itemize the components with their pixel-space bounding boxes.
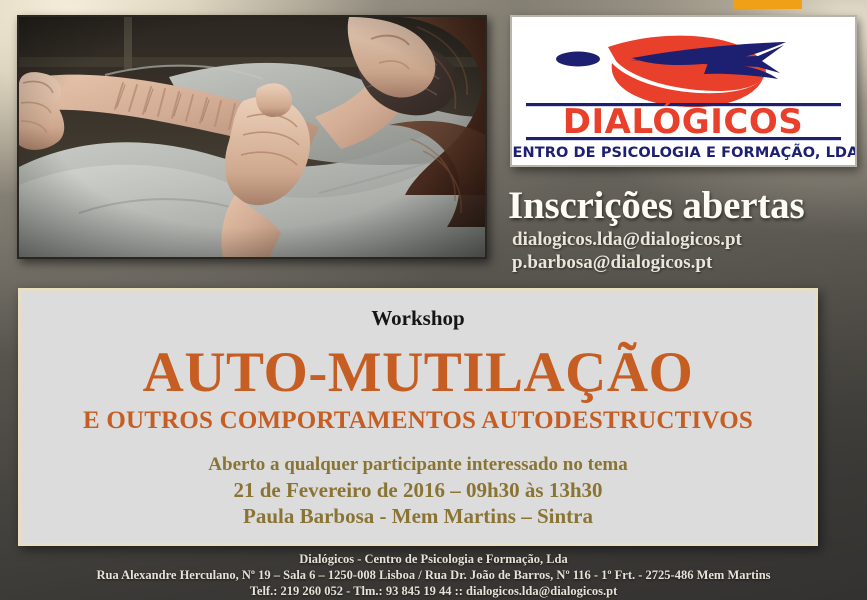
enrolment-block: Inscrições abertas dialogicos.lda@dialog…: [508, 184, 864, 274]
dialogicos-logo-icon: DIALÓGICOS CENTRO DE PSICOLOGIA E FORMAÇ…: [512, 17, 855, 165]
main-content-panel: Workshop AUTO-MUTILAÇÃO E OUTROS COMPORT…: [18, 288, 818, 546]
detail-datetime: 21 de Fevereiro de 2016 – 09h30 às 13h30: [21, 477, 815, 503]
dialogicos-logo-card: DIALÓGICOS CENTRO DE PSICOLOGIA E FORMAÇ…: [510, 15, 857, 167]
hero-photo: [17, 15, 487, 259]
workshop-kicker: Workshop: [21, 305, 815, 331]
hero-photo-image: [19, 17, 485, 257]
poster-root: DIALÓGICOS CENTRO DE PSICOLOGIA E FORMAÇ…: [0, 0, 867, 600]
logo-tagline-text: CENTRO DE PSICOLOGIA E FORMAÇÃO, LDA.: [512, 144, 855, 161]
event-details: Aberto a qualquer participante interessa…: [21, 452, 815, 529]
enrolment-heading: Inscrições abertas: [508, 184, 864, 228]
footer-company: Dialógicos - Centro de Psicologia e Form…: [0, 551, 867, 567]
page-subtitle: E OUTROS COMPORTAMENTOS AUTODESTRUCTIVOS: [21, 406, 815, 436]
logo-wordmark-text: DIALÓGICOS: [563, 101, 803, 142]
enrolment-email-primary[interactable]: dialogicos.lda@dialogicos.pt: [508, 228, 864, 251]
enrolment-email-secondary[interactable]: p.barbosa@dialogicos.pt: [508, 251, 864, 274]
footer-contacts: Telf.: 219 260 052 - Tlm.: 93 845 19 44 …: [0, 583, 867, 599]
footer: Dialógicos - Centro de Psicologia e Form…: [0, 551, 867, 599]
top-accent-bar: [733, 0, 802, 9]
detail-audience: Aberto a qualquer participante interessa…: [21, 452, 815, 477]
detail-presenter-location: Paula Barbosa - Mem Martins – Sintra: [21, 503, 815, 529]
page-title: AUTO-MUTILAÇÃO: [21, 342, 815, 404]
footer-address: Rua Alexandre Herculano, Nº 19 – Sala 6 …: [0, 567, 867, 583]
